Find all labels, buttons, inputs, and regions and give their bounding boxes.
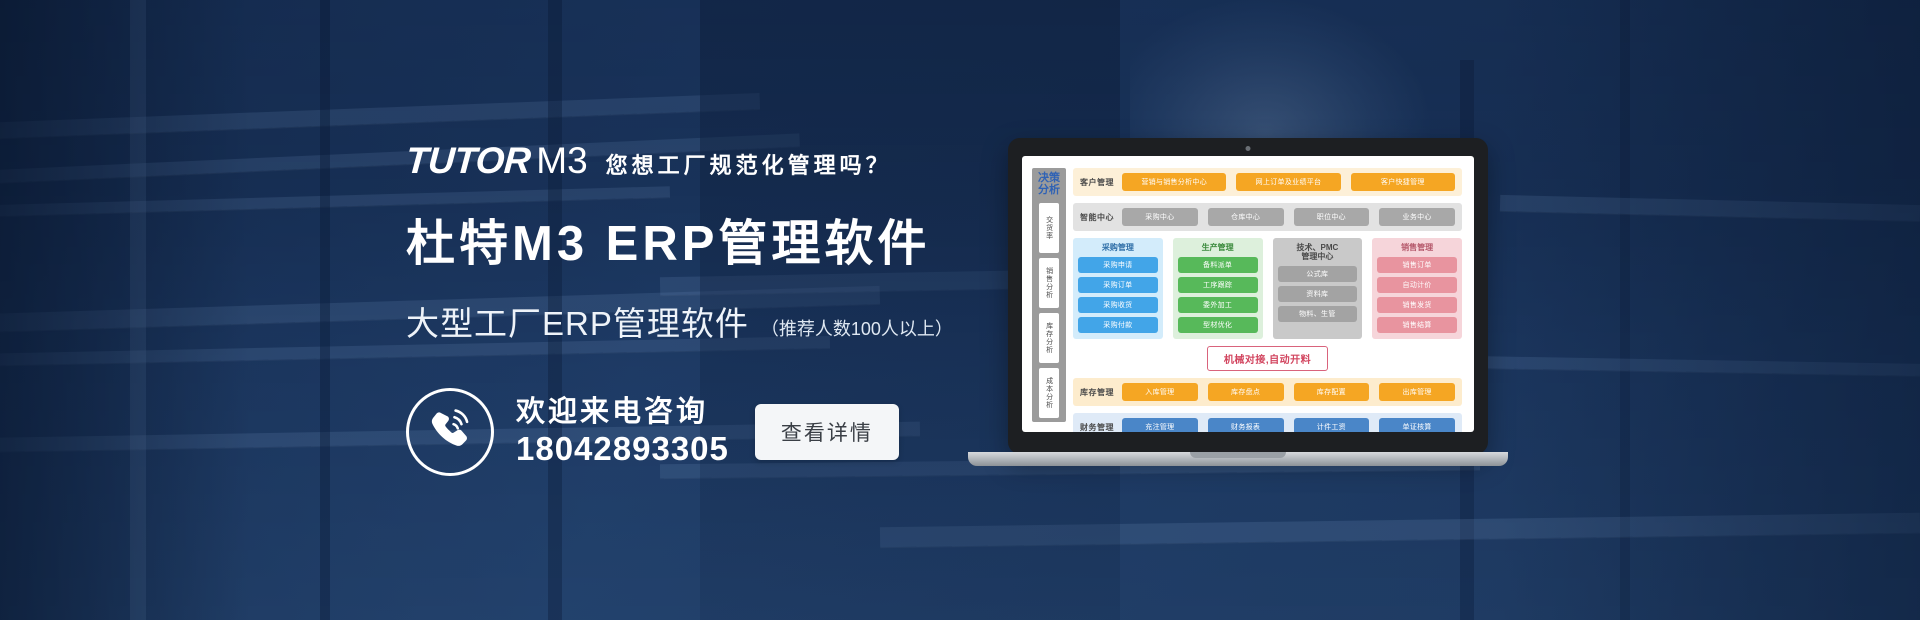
contact-text: 欢迎来电咨询 18042893305 (516, 397, 729, 466)
chip-financial-report[interactable]: 财务报表 (1208, 418, 1284, 432)
purchase-order[interactable]: 采购订单 (1078, 277, 1158, 293)
chip-customer-quick-manage[interactable]: 客户快捷管理 (1351, 173, 1455, 191)
sidebar-item-stock-analysis[interactable]: 库存分析 (1039, 313, 1059, 363)
hero-banner: TUTOR M3 您想工厂规范化管理吗？ 杜特M3 ERP管理软件 大型工厂ER… (0, 0, 1920, 620)
material-control[interactable]: 物料、生管 (1278, 306, 1358, 322)
chip-outbound[interactable]: 出库管理 (1379, 383, 1455, 401)
chip-purchase-center[interactable]: 采购中心 (1122, 208, 1198, 226)
chip-stock-config[interactable]: 库存配置 (1294, 383, 1370, 401)
process-tracking[interactable]: 工序跟踪 (1178, 277, 1258, 293)
laptop-screen: 决策分析 交货率 销售分析 库存分析 成本分析 客户管理 营销与销售分析中心 网… (1022, 156, 1474, 432)
view-details-button[interactable]: 查看详情 (755, 404, 899, 460)
laptop-mockup: 决策分析 交货率 销售分析 库存分析 成本分析 客户管理 营销与销售分析中心 网… (968, 138, 1508, 478)
column-title-tech: 技术、PMC 管理中心 (1278, 243, 1358, 261)
diagram-row-finance: 财务管理 充注管理 财务报表 计件工资 单证核算 (1073, 413, 1462, 432)
diagram-row-stock: 库存管理 入库管理 库存盘点 库存配置 出库管理 (1073, 378, 1462, 406)
highlight-auto-cutting: 机械对接,自动开料 (1207, 346, 1328, 371)
production-dispatch[interactable]: 备料派单 (1178, 257, 1258, 273)
diagram-row-customer: 客户管理 营销与销售分析中心 网上订单及业绩平台 客户快捷管理 (1073, 168, 1462, 196)
row-chips-stock: 入库管理 库存盘点 库存配置 出库管理 (1122, 383, 1455, 401)
row-label-smart: 智能中心 (1080, 212, 1114, 223)
row-label-finance: 财务管理 (1080, 422, 1114, 432)
chip-piece-wages[interactable]: 计件工资 (1294, 418, 1370, 432)
chip-warehouse-center[interactable]: 仓库中心 (1208, 208, 1284, 226)
phone-call-icon (406, 388, 494, 476)
page-title: 杜特M3 ERP管理软件 (406, 204, 1046, 275)
subtitle-main: 大型工厂ERP管理软件 (406, 297, 749, 345)
purchase-payment[interactable]: 采购付款 (1078, 317, 1158, 333)
sidebar-item-delivery[interactable]: 交货率 (1039, 203, 1059, 253)
outsourced-processing[interactable]: 委外加工 (1178, 297, 1258, 313)
brand-eyebrow: TUTOR M3 您想工厂规范化管理吗？ (406, 140, 1046, 182)
subtitle-note: （推荐人数100人以上） (761, 315, 953, 341)
column-title-production: 生产管理 (1178, 243, 1258, 252)
sidebar-item-sales-analysis[interactable]: 销售分析 (1039, 258, 1059, 308)
profile-optimization[interactable]: 型材优化 (1178, 317, 1258, 333)
sidebar-item-cost-analysis[interactable]: 成本分析 (1039, 368, 1059, 418)
webcam-dot (1246, 146, 1251, 151)
logo-m3: M3 (536, 140, 587, 182)
purchase-receipt[interactable]: 采购收货 (1078, 297, 1158, 313)
chip-inbound[interactable]: 入库管理 (1122, 383, 1198, 401)
hero-copy: TUTOR M3 您想工厂规范化管理吗？ 杜特M3 ERP管理软件 大型工厂ER… (406, 140, 1046, 345)
logo-tutor: TUTOR (405, 140, 532, 182)
diagram-column-sales: 销售管理 销售订单 自动计价 销售发货 销售结算 (1372, 238, 1462, 339)
formula-library[interactable]: 公式库 (1278, 266, 1358, 282)
chip-online-order-platform[interactable]: 网上订单及业绩平台 (1236, 173, 1340, 191)
contact-phone-number[interactable]: 18042893305 (516, 432, 729, 467)
eyebrow-question: 您想工厂规范化管理吗？ (606, 148, 892, 180)
row-chips-smart: 采购中心 仓库中心 职位中心 业务中心 (1122, 208, 1455, 226)
contact-block: 欢迎来电咨询 18042893305 查看详情 (406, 388, 899, 476)
purchase-request[interactable]: 采购申请 (1078, 257, 1158, 273)
contact-title: 欢迎来电咨询 (516, 397, 729, 427)
chip-document-accounting[interactable]: 单证核算 (1379, 418, 1455, 432)
row-chips-customer: 营销与销售分析中心 网上订单及业绩平台 客户快捷管理 (1122, 173, 1455, 191)
row-label-stock: 库存管理 (1080, 387, 1114, 398)
diagram-main: 客户管理 营销与销售分析中心 网上订单及业绩平台 客户快捷管理 智能中心 采购中… (1073, 168, 1462, 422)
chip-position-center[interactable]: 职位中心 (1294, 208, 1370, 226)
diagram-columns: 采购管理 采购申请 采购订单 采购收货 采购付款 生产管理 备料派单 工序跟踪 … (1073, 238, 1462, 339)
diagram-column-purchase: 采购管理 采购申请 采购订单 采购收货 采购付款 (1073, 238, 1163, 339)
sales-settlement[interactable]: 销售结算 (1377, 317, 1457, 333)
row-chips-finance: 充注管理 财务报表 计件工资 单证核算 (1122, 418, 1455, 432)
laptop-lid: 决策分析 交货率 销售分析 库存分析 成本分析 客户管理 营销与销售分析中心 网… (1008, 138, 1488, 454)
hero-subtitle: 大型工厂ERP管理软件 （推荐人数100人以上） (406, 297, 1046, 345)
laptop-notch (1190, 452, 1286, 458)
column-title-sales: 销售管理 (1377, 243, 1457, 252)
diagram-column-production: 生产管理 备料派单 工序跟踪 委外加工 型材优化 (1173, 238, 1263, 339)
erp-architecture-diagram: 决策分析 交货率 销售分析 库存分析 成本分析 客户管理 营销与销售分析中心 网… (1022, 156, 1474, 432)
chip-stocktaking[interactable]: 库存盘点 (1208, 383, 1284, 401)
chip-voucher-manage[interactable]: 充注管理 (1122, 418, 1198, 432)
column-title-purchase: 采购管理 (1078, 243, 1158, 252)
diagram-column-tech: 技术、PMC 管理中心 公式库 资料库 物料、生管 (1273, 238, 1363, 339)
data-library[interactable]: 资料库 (1278, 286, 1358, 302)
chip-marketing-center[interactable]: 营销与销售分析中心 (1122, 173, 1226, 191)
diagram-sidebar: 决策分析 交货率 销售分析 库存分析 成本分析 (1032, 168, 1066, 422)
chip-business-center[interactable]: 业务中心 (1379, 208, 1455, 226)
sales-order[interactable]: 销售订单 (1377, 257, 1457, 273)
auto-pricing[interactable]: 自动计价 (1377, 277, 1457, 293)
row-label-customer: 客户管理 (1080, 177, 1114, 188)
sales-delivery[interactable]: 销售发货 (1377, 297, 1457, 313)
sidebar-header: 决策分析 (1035, 172, 1063, 198)
diagram-highlight-wrap: 机械对接,自动开料 (1073, 346, 1462, 371)
diagram-row-smart: 智能中心 采购中心 仓库中心 职位中心 业务中心 (1073, 203, 1462, 231)
